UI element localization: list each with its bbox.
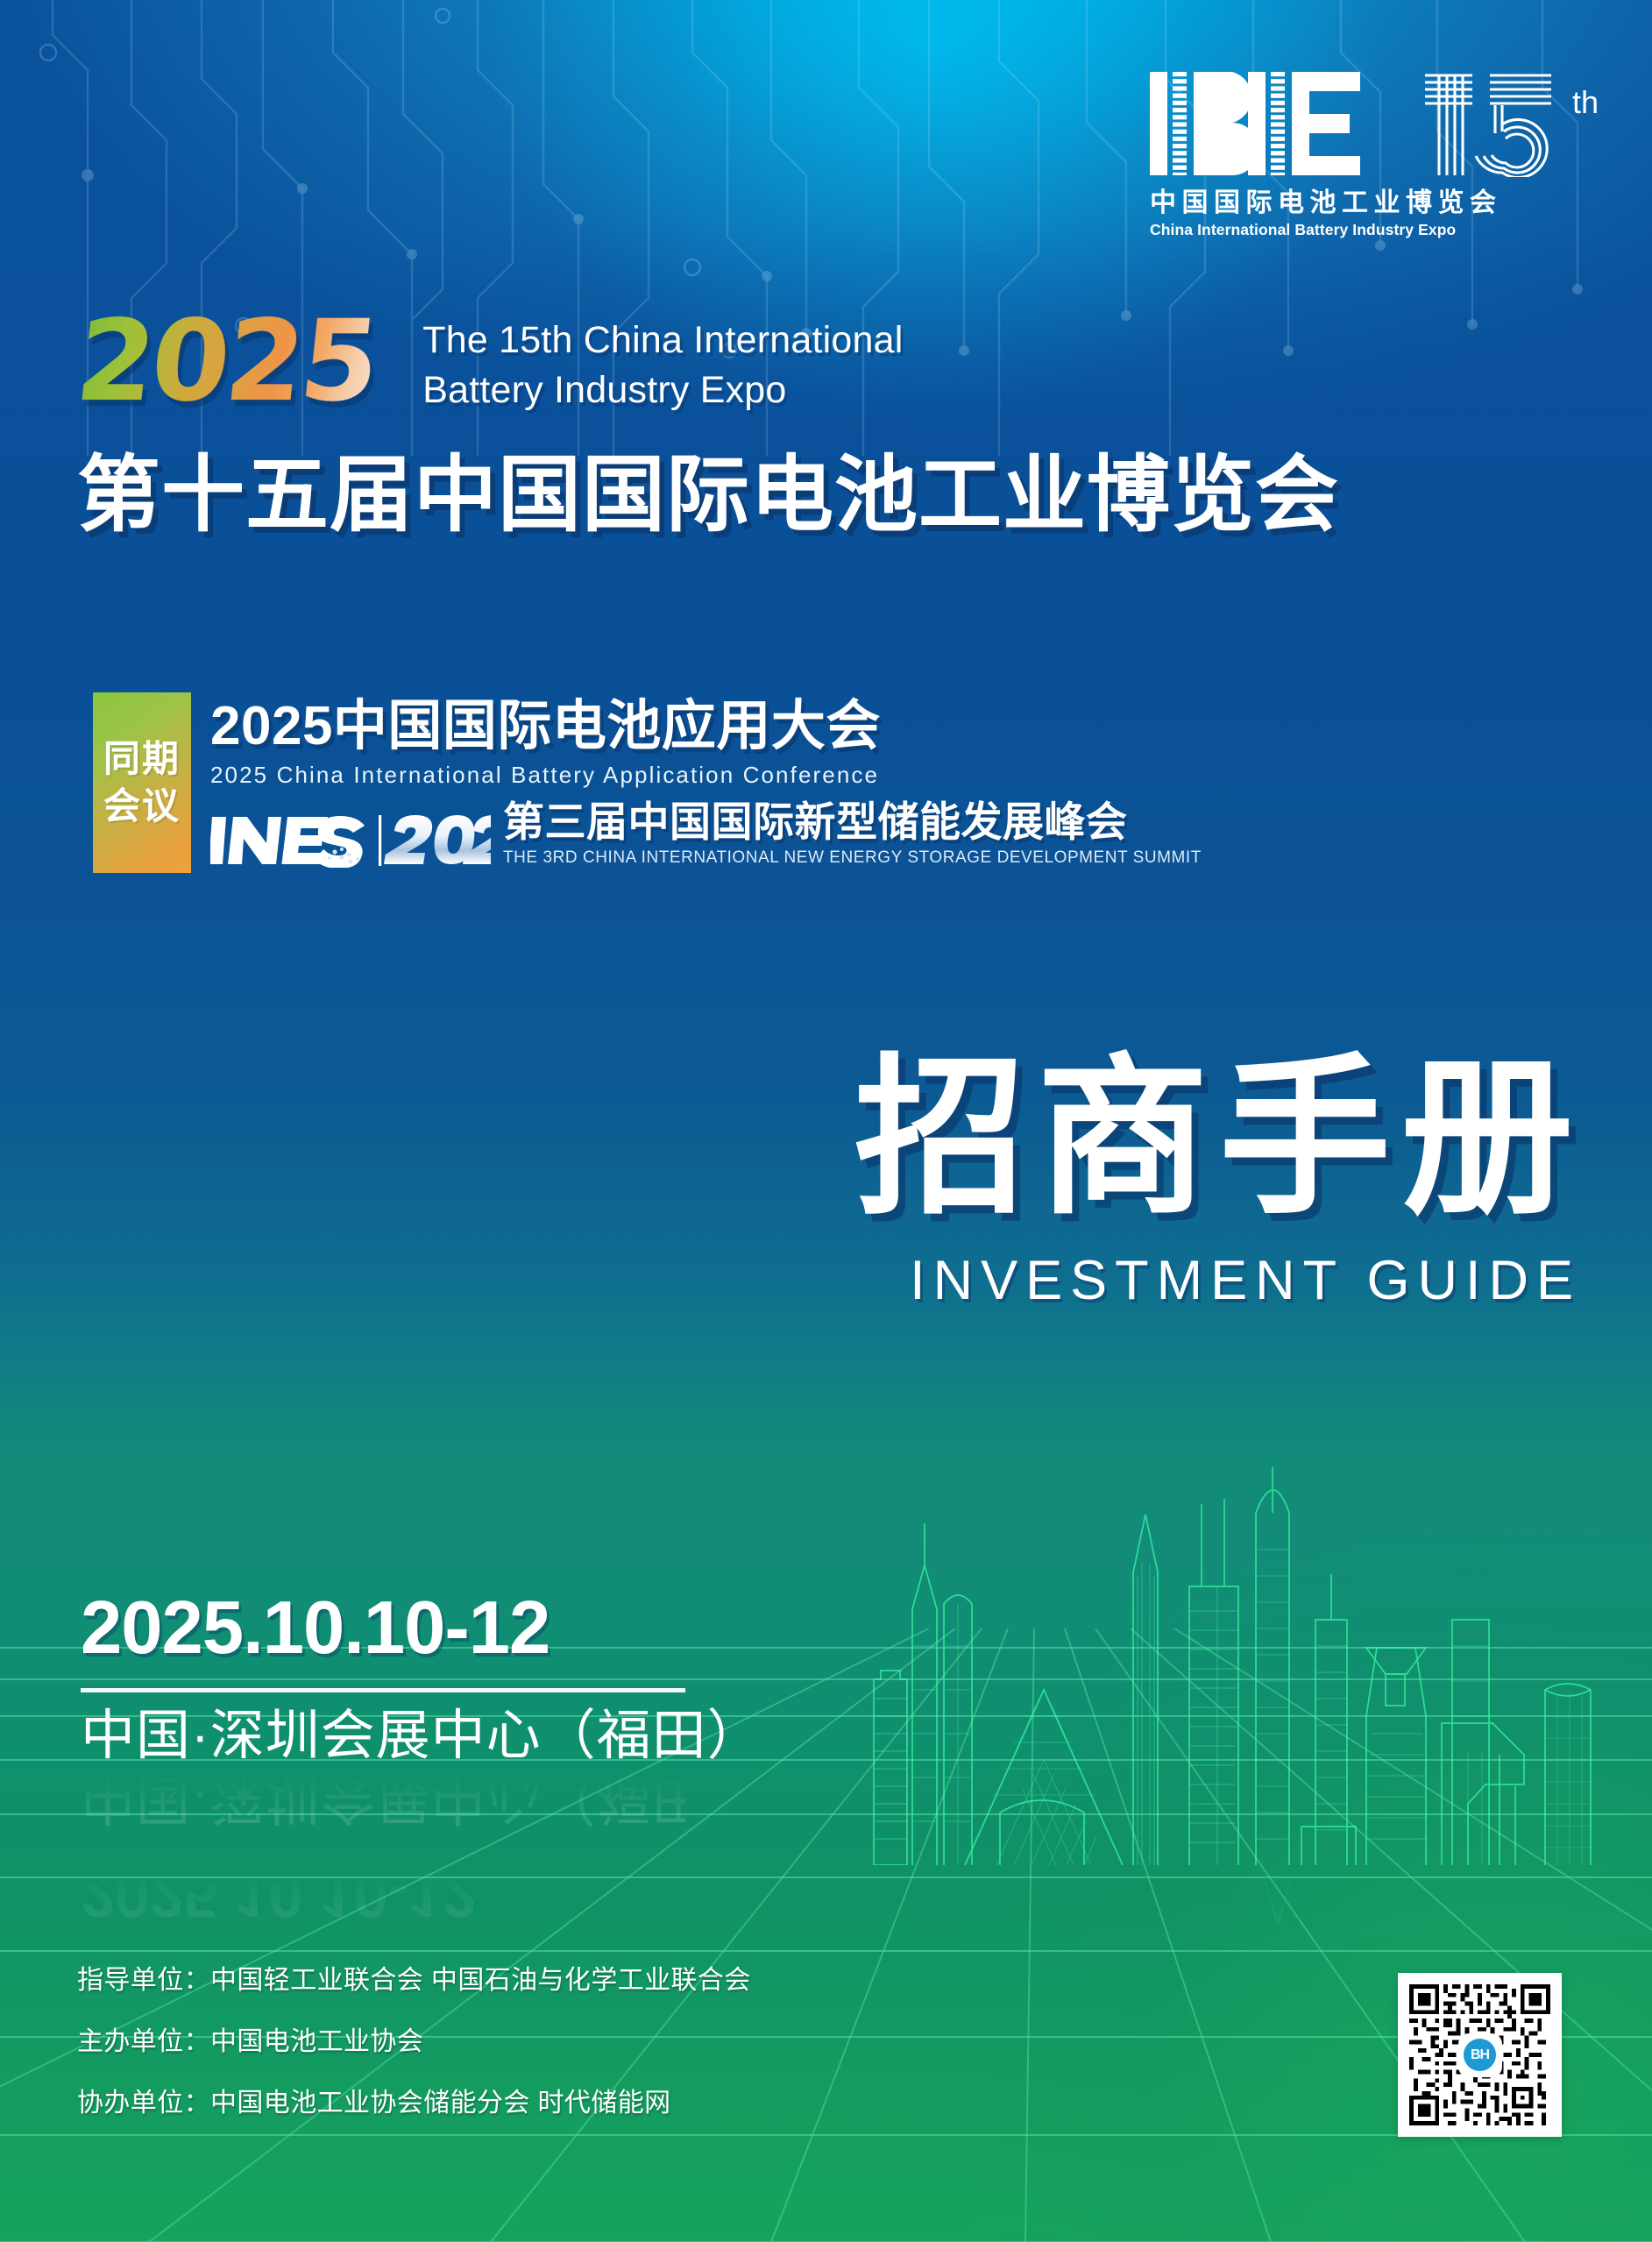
organizer-host: 主办单位：中国电池工业协会 [77, 2019, 751, 2058]
qr-center-logo-text: BH [1464, 2039, 1496, 2071]
headline-english-line2: Battery Industry Expo [422, 365, 903, 415]
ines-logo [210, 813, 491, 868]
event-date-mirror: 2025.10.10-12 [81, 1862, 685, 1926]
event-info-divider [81, 1688, 685, 1692]
organizers-block: 指导单位：中国轻工业联合会 中国石油与化学工业联合会 主办单位：中国电池工业协会… [77, 1958, 751, 2119]
main-title-chinese: 招商手册 [854, 1047, 1584, 1230]
headline-english-line1: The 15th China International [422, 316, 903, 365]
event-date: 2025.10.10-12 [81, 1591, 685, 1665]
event-venue-reflection: 中国·深圳会展中心（福田） [81, 1768, 685, 1827]
concurrent-badge-line1: 同期 [103, 741, 181, 777]
concurrent-badge-line2: 会议 [103, 788, 181, 825]
main-title-block: 招商手册 INVESTMENT GUIDE [854, 1047, 1573, 1312]
main-title-english: INVESTMENT GUIDE [854, 1249, 1581, 1312]
storage-summit-en: THE 3RD CHINA INTERNATIONAL NEW ENERGY S… [503, 848, 1202, 868]
application-conference-en: 2025 China International Battery Applica… [210, 762, 1202, 789]
storage-summit-cn: 第三届中国国际新型储能发展峰会 [503, 799, 1202, 845]
organizer-coorganizer: 协办单位：中国电池工业协会储能分会 时代储能网 [77, 2081, 751, 2119]
poster-root: th 中国国际电池工业博览会 China International Batte… [0, 0, 1652, 2242]
application-conference-cn: 2025中国国际电池应用大会 [210, 698, 1202, 756]
headline-english: The 15th China International Battery Ind… [422, 309, 903, 415]
headline-block: 2025 The 15th China International Batter… [77, 309, 1585, 548]
event-venue: 中国·深圳会展中心（福田） [81, 1706, 685, 1766]
event-date-reflection: 2025.10.10-12 [81, 1862, 685, 1926]
ibie-english-name: China International Battery Industry Exp… [1150, 221, 1606, 239]
anniversary-15-icon: th [1418, 72, 1593, 177]
event-info-block: 2025.10.10-12 中国·深圳会展中心（福田） 中国·深圳会展中心（福田… [81, 1591, 685, 1926]
concurrent-badge: 同期 会议 [93, 692, 191, 873]
headline-year: 2025 [72, 309, 394, 415]
concurrent-conference-block: 同期 会议 2025中国国际电池应用大会 2025 China Internat… [93, 692, 1202, 873]
qr-code[interactable]: BH [1398, 1973, 1562, 2137]
headline-chinese: 第十五届中国国际电池工业博览会 [77, 428, 1585, 548]
ibie-wordmark-icon [1150, 72, 1404, 175]
anniversary-suffix: th [1572, 84, 1599, 121]
ibie-chinese-name: 中国国际电池工业博览会 [1150, 181, 1606, 219]
qr-center-logo: BH [1460, 2035, 1500, 2075]
event-venue-mirror: 中国·深圳会展中心（福田） [81, 1768, 685, 1827]
organizer-guidance: 指导单位：中国轻工业联合会 中国石油与化学工业联合会 [77, 1958, 751, 1997]
ibie-logo: th 中国国际电池工业博览会 China International Batte… [1150, 72, 1606, 238]
